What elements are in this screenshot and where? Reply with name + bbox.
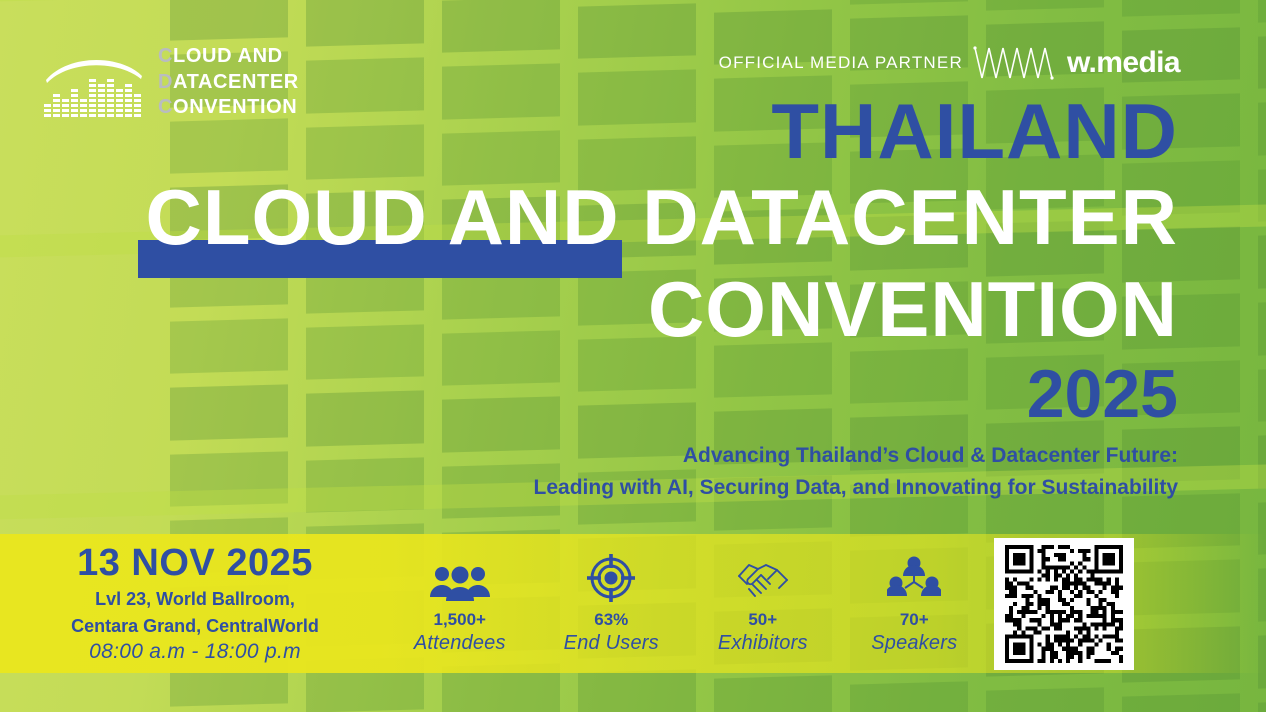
zigzag-wave-icon <box>973 46 1057 80</box>
cdc-logo-line-2: DATACENTER <box>158 70 299 96</box>
city-skyline-icon <box>42 46 146 118</box>
stat-value: 63% <box>542 610 680 630</box>
headline-main-row: CLOUD AND DATACENTER <box>0 178 1178 256</box>
target-crosshair-icon <box>542 550 680 602</box>
cdc-rest-2: ATACENTER <box>173 71 299 93</box>
event-venue-line-1: Lvl 23, World Ballroom, <box>10 588 380 610</box>
stat-label: Speakers <box>845 632 983 655</box>
media-partner-label: OFFICIAL MEDIA PARTNER <box>719 53 963 73</box>
stat-speakers: 70+ Speakers <box>845 550 983 655</box>
subtitle-line-2: Leading with AI, Securing Data, and Inno… <box>534 472 1178 504</box>
headline-country: THAILAND <box>771 92 1178 170</box>
media-partner-name: w.media <box>1067 46 1180 80</box>
people-group-icon <box>391 550 529 602</box>
stat-end-users: 63% End Users <box>542 550 680 655</box>
event-details-block: 13 NOV 2025 Lvl 23, World Ballroom, Cent… <box>0 543 380 664</box>
headline-highlight-wrap: CLOUD AND <box>146 178 620 256</box>
headline-cloud-and: CLOUD AND <box>146 173 620 261</box>
event-poster: CLOUD AND DATACENTER CONVENTION OFFICIAL… <box>0 0 1266 712</box>
info-band: 13 NOV 2025 Lvl 23, World Ballroom, Cent… <box>0 534 1266 673</box>
stat-attendees: 1,500+ Attendees <box>391 550 529 655</box>
media-partner-block: OFFICIAL MEDIA PARTNER w.media <box>719 46 1180 80</box>
headline-convention: CONVENTION <box>648 270 1178 348</box>
stat-label: End Users <box>542 632 680 655</box>
cdc-lead-d: D <box>158 71 173 93</box>
cdc-logo-line-1: CLOUD AND <box>158 44 299 70</box>
stat-exhibitors: 50+ Exhibitors <box>694 550 832 655</box>
headline-year: 2025 <box>1027 360 1178 428</box>
stat-label: Attendees <box>391 632 529 655</box>
subtitle-block: Advancing Thailand’s Cloud & Datacenter … <box>534 440 1178 503</box>
cdc-logo-line-3: CONVENTION <box>158 95 299 121</box>
stat-label: Exhibitors <box>694 632 832 655</box>
event-venue-line-2: Centara Grand, CentralWorld <box>10 615 380 637</box>
stat-value: 70+ <box>845 610 983 630</box>
qr-code-icon[interactable] <box>1001 545 1127 663</box>
stat-value: 1,500+ <box>391 610 529 630</box>
stats-row: 1,500+ Attendees 63% End Users <box>380 550 994 657</box>
headline-datacenter: DATACENTER <box>620 173 1178 261</box>
cdc-lead-c2: C <box>158 96 173 118</box>
stat-value: 50+ <box>694 610 832 630</box>
cdc-logo: CLOUD AND DATACENTER CONVENTION <box>42 44 299 121</box>
handshake-icon <box>694 550 832 602</box>
event-date: 13 NOV 2025 <box>10 543 380 584</box>
cdc-logo-text: CLOUD AND DATACENTER CONVENTION <box>158 44 299 121</box>
cdc-rest-1: LOUD AND <box>173 45 283 67</box>
network-people-icon <box>845 550 983 602</box>
subtitle-line-1: Advancing Thailand’s Cloud & Datacenter … <box>534 440 1178 472</box>
event-time: 08:00 a.m - 18:00 p.m <box>10 640 380 664</box>
qr-code-container[interactable] <box>994 538 1134 670</box>
cdc-lead-c1: C <box>158 45 173 67</box>
cdc-rest-3: ONVENTION <box>173 96 297 118</box>
